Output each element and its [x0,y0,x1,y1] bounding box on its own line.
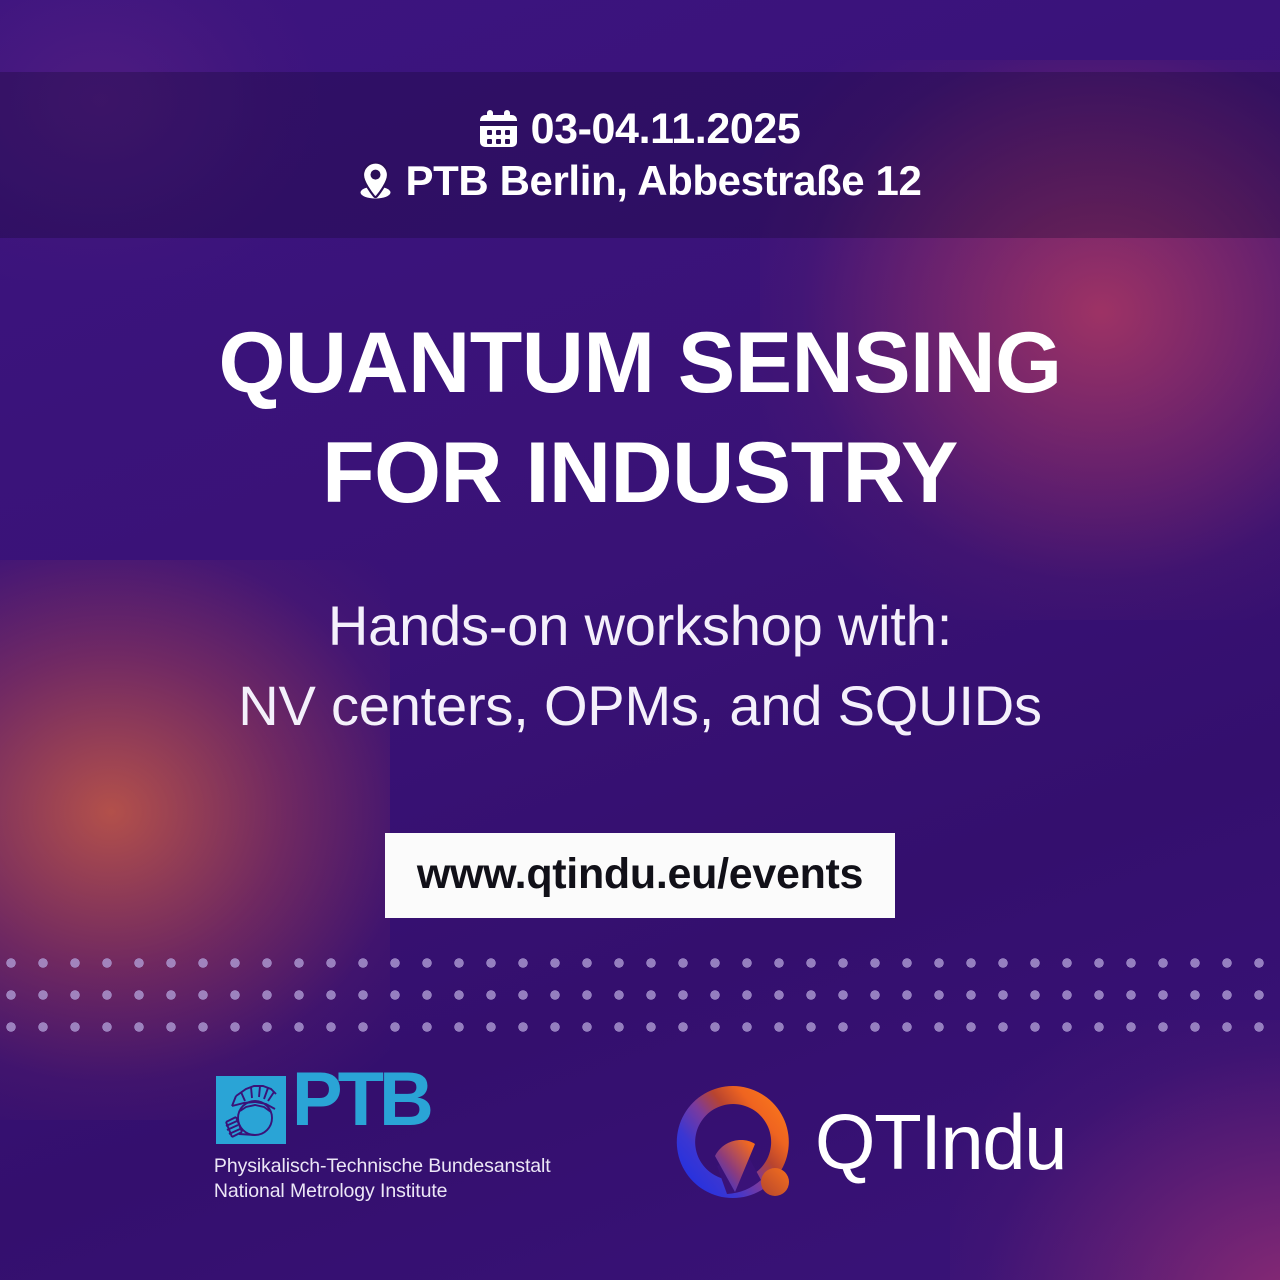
poster-subtitle-line-2: NV centers, OPMs, and SQUIDs [0,666,1280,746]
event-date-row: 03-04.11.2025 [480,107,801,152]
ptb-subtitle-line-2: National Metrology Institute [214,1179,559,1204]
ptb-logo-subtitle: Physikalisch-Technische Bundesanstalt Na… [214,1154,559,1203]
event-date-text: 03-04.11.2025 [531,107,801,152]
poster-title-line-2: FOR INDUSTRY [0,418,1280,528]
event-location-text: PTB Berlin, Abbestraße 12 [406,159,922,203]
event-poster: 03-04.11.2025 PTB Berlin, Abbestraße 12 … [0,0,1280,1280]
location-pin-icon [359,161,392,199]
ptb-subtitle-line-1: Physikalisch-Technische Bundesanstalt [214,1155,551,1177]
poster-subtitle-line-1: Hands-on workshop with: [328,594,952,657]
ptb-logo-top: PTB [214,1074,559,1146]
event-url-link[interactable]: www.qtindu.eu/events [385,833,895,918]
event-details-band: 03-04.11.2025 PTB Berlin, Abbestraße 12 [0,72,1280,238]
qtindu-q-circle-icon [669,1078,797,1206]
logo-row: PTB Physikalisch-Technische Bundesanstal… [0,1074,1280,1224]
ptb-wordmark: PTB [292,1069,429,1131]
poster-subtitle: Hands-on workshop with: NV centers, OPMs… [0,586,1280,745]
poster-title: QUANTUM SENSING FOR INDUSTRY [0,308,1280,528]
url-container: www.qtindu.eu/events [0,833,1280,918]
qtindu-wordmark: QTIndu [815,1103,1066,1181]
qtindu-logo[interactable]: QTIndu [669,1078,1066,1206]
ptb-logo[interactable]: PTB Physikalisch-Technische Bundesanstal… [214,1074,559,1203]
dot-pattern-decoration [0,952,1280,1048]
ptb-fan-square-icon [214,1074,294,1146]
poster-title-line-1: QUANTUM SENSING [219,315,1062,411]
event-location-row: PTB Berlin, Abbestraße 12 [359,159,922,203]
calendar-icon [480,110,517,147]
